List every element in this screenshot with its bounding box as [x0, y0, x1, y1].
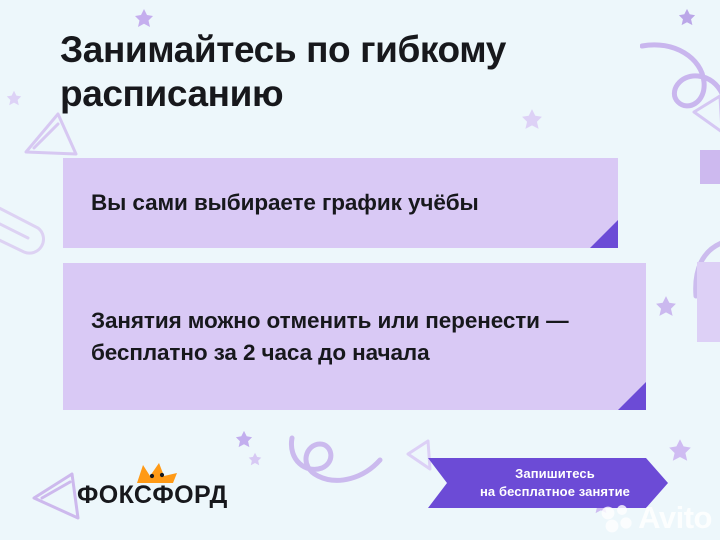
- star-decoration-4: [655, 295, 677, 317]
- avito-watermark-text: Avito: [638, 500, 712, 536]
- page-title: Занимайтесь по гибкому расписанию: [60, 28, 660, 115]
- triangle-outline-decoration-3: [690, 92, 720, 136]
- square-decoration-right-lower: [700, 150, 720, 184]
- swirl-decoration-bottom: [288, 432, 400, 488]
- corner-fold-icon: [618, 382, 646, 410]
- feature-card: Занятия можно отменить или перенести — б…: [63, 263, 646, 410]
- feature-card: Вы сами выбираете график учёбы: [63, 158, 618, 248]
- star-decoration-7: [248, 452, 262, 466]
- slide-canvas: Занимайтесь по гибкому расписанию Вы сам…: [0, 0, 720, 540]
- triangle-outline-decoration: [18, 108, 84, 164]
- star-decoration-5: [668, 438, 692, 462]
- avito-logo-icon: [600, 503, 636, 533]
- square-decoration-right: [697, 262, 720, 342]
- cta-ribbon-line-1: Запишитесь: [515, 465, 595, 483]
- star-decoration-2: [678, 8, 696, 26]
- foxford-logo: ФОКСФОРД: [77, 462, 237, 510]
- corner-fold-icon: [590, 220, 618, 248]
- feature-card-text: Занятия можно отменить или перенести — б…: [63, 305, 646, 369]
- star-decoration-1: [134, 8, 154, 28]
- avito-watermark: Avito: [600, 500, 712, 536]
- arc-decoration-right: [690, 240, 720, 300]
- feature-card-text: Вы сами выбираете график учёбы: [63, 187, 505, 219]
- star-decoration-9: [6, 90, 22, 106]
- foxford-logo-text: ФОКСФОРД: [77, 481, 228, 510]
- star-decoration-6: [235, 430, 253, 448]
- cta-ribbon-line-2: на бесплатное занятие: [480, 483, 630, 501]
